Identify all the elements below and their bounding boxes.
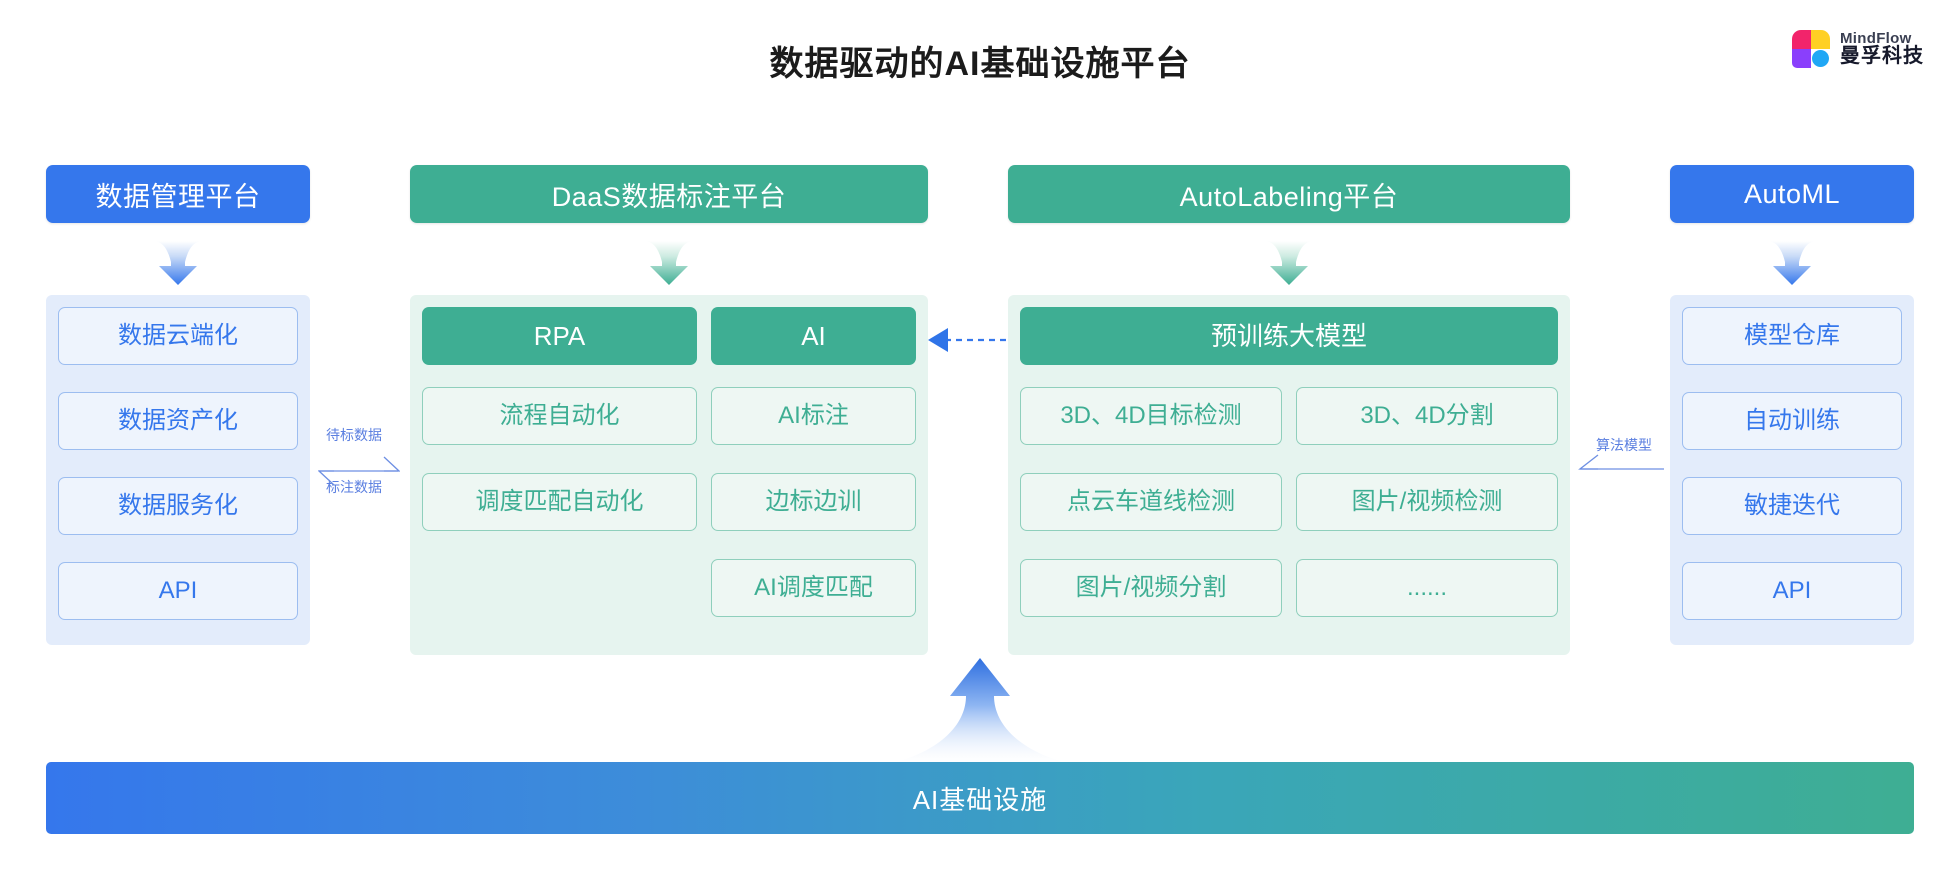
panel-data-management: 数据云端化 数据资产化 数据服务化 API	[46, 295, 310, 645]
column-header-daas[interactable]: DaaS数据标注平台	[410, 165, 928, 223]
logo-square-pink	[1792, 30, 1811, 49]
down-arrow-icon-1	[151, 240, 205, 286]
chip-data-api[interactable]: API	[58, 562, 298, 620]
chip-data-service[interactable]: 数据服务化	[58, 477, 298, 535]
up-arrow-icon-infrastructure	[890, 658, 1070, 770]
group-head-ai[interactable]: AI	[711, 307, 916, 365]
down-arrow-icon-2	[642, 240, 696, 286]
chip-3d-4d-segmentation[interactable]: 3D、4D分割	[1296, 387, 1558, 445]
brand-name-cn: 曼孚科技	[1840, 46, 1924, 67]
chip-process-automation[interactable]: 流程自动化	[422, 387, 697, 445]
chip-ai-labeling[interactable]: AI标注	[711, 387, 916, 445]
chip-data-cloud[interactable]: 数据云端化	[58, 307, 298, 365]
footer-bar-ai-infrastructure[interactable]: AI基础设施	[46, 762, 1914, 834]
chip-ai-schedule-match[interactable]: AI调度匹配	[711, 559, 916, 617]
chip-label-while-train[interactable]: 边标边训	[711, 473, 916, 531]
chip-3d-4d-detection[interactable]: 3D、4D目标检测	[1020, 387, 1282, 445]
logo-square-yellow	[1811, 30, 1830, 49]
chip-image-video-segmentation[interactable]: 图片/视频分割	[1020, 559, 1282, 617]
panel-autolabeling: 预训练大模型 3D、4D目标检测 3D、4D分割 点云车道线检测 图片/视频检测…	[1008, 295, 1570, 655]
chip-data-assets[interactable]: 数据资产化	[58, 392, 298, 450]
chip-model-repository[interactable]: 模型仓库	[1682, 307, 1902, 365]
column-header-data-management[interactable]: 数据管理平台	[46, 165, 310, 223]
brand-name-en: MindFlow	[1840, 31, 1924, 47]
chip-agile-iteration[interactable]: 敏捷迭代	[1682, 477, 1902, 535]
diagram-canvas: 数据驱动的AI基础设施平台 MindFlow 曼孚科技 数据管理平台	[0, 0, 1960, 870]
column-header-automl[interactable]: AutoML	[1670, 165, 1914, 223]
logo-circle-blue	[1812, 50, 1829, 67]
logo-square-purple	[1792, 49, 1811, 68]
connector-pretrained-to-ai	[918, 325, 1008, 355]
down-arrow-icon-4	[1765, 240, 1819, 286]
banner-pretrained-model[interactable]: 预训练大模型	[1020, 307, 1558, 365]
chip-image-video-detection[interactable]: 图片/视频检测	[1296, 473, 1558, 531]
column-header-autolabeling[interactable]: AutoLabeling平台	[1008, 165, 1570, 223]
page-title: 数据驱动的AI基础设施平台	[0, 36, 1960, 85]
chip-schedule-match-automation[interactable]: 调度匹配自动化	[422, 473, 697, 531]
chip-more-ellipsis[interactable]: ......	[1296, 559, 1558, 617]
down-arrow-icon-3	[1262, 240, 1316, 286]
panel-automl: 模型仓库 自动训练 敏捷迭代 API	[1670, 295, 1914, 645]
chip-automl-api[interactable]: API	[1682, 562, 1902, 620]
brand-logo: MindFlow 曼孚科技	[1792, 30, 1924, 68]
mindflow-logo-icon	[1792, 30, 1830, 68]
connector-algorithm-model: 算法模型	[1578, 435, 1666, 485]
panel-daas: RPA 流程自动化 调度匹配自动化 AI AI标注 边标边训 AI调度匹配	[410, 295, 928, 655]
chip-pointcloud-lane-detection[interactable]: 点云车道线检测	[1020, 473, 1282, 531]
chip-auto-training[interactable]: 自动训练	[1682, 392, 1902, 450]
connector-data-labeling-pair: 待标数据 标注数据	[318, 425, 400, 515]
brand-text: MindFlow 曼孚科技	[1840, 31, 1924, 68]
group-head-rpa[interactable]: RPA	[422, 307, 697, 365]
